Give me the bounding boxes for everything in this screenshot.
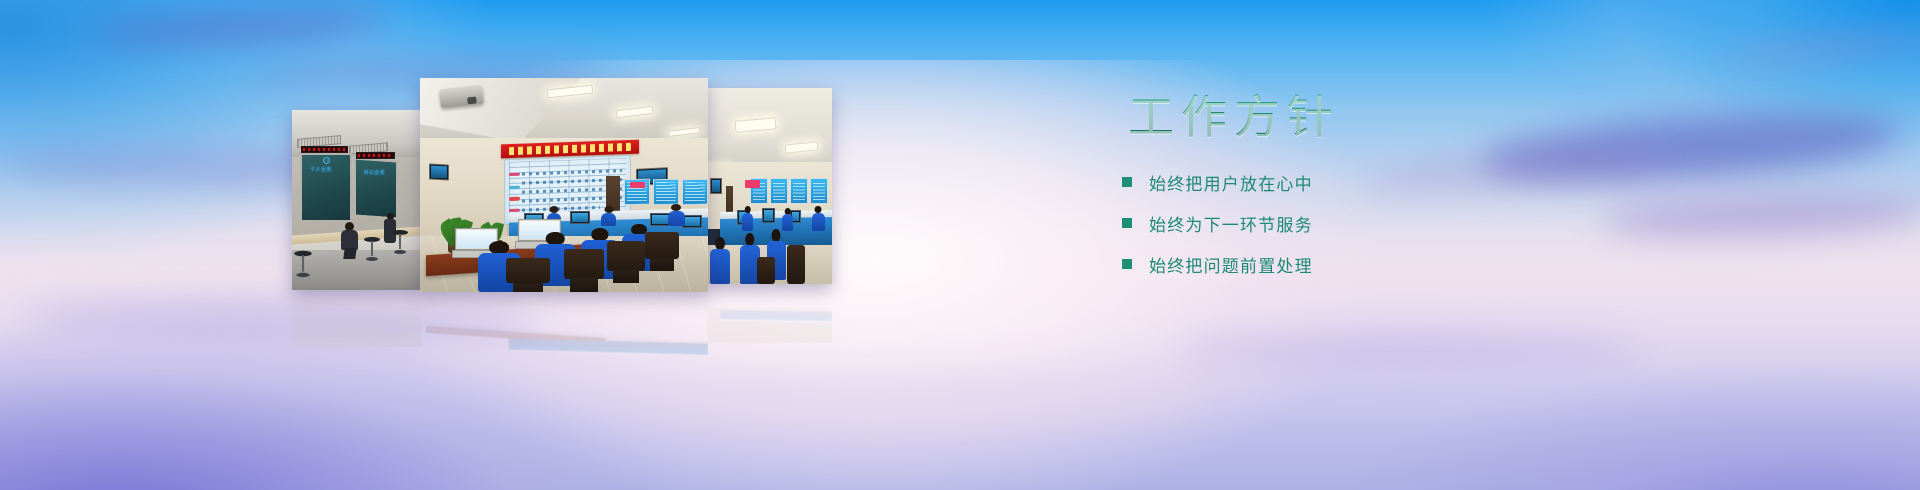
office-chair-icon (564, 249, 604, 292)
torso (341, 230, 358, 250)
monitor-icon (570, 211, 590, 224)
seated-operator (782, 208, 793, 232)
dispatch-control-room-photo[interactable] (420, 78, 708, 292)
bar-stool-icon (392, 230, 408, 254)
banner-text-block: 工作方针 始终把用户放在心中 始终为下一环节服务 始终把问题前置处理 (1122, 92, 1642, 293)
page-title: 工作方针 (1128, 92, 1642, 144)
list-item-label: 始终为下一环节服务 (1149, 211, 1313, 236)
chair-legs (650, 258, 673, 270)
torso (742, 213, 753, 231)
seated-customer (341, 222, 358, 258)
list-item: 始终把问题前置处理 (1122, 252, 1642, 277)
list-item-label: 始终把用户放在心中 (1149, 170, 1313, 195)
wall-monitor-icon (710, 178, 723, 194)
head (489, 241, 509, 254)
notice-board-title (745, 180, 760, 188)
head (549, 206, 558, 213)
notice-board (682, 178, 708, 204)
office-chair-icon (787, 245, 805, 284)
office-chair-icon (607, 241, 644, 284)
torso (710, 249, 730, 284)
pole (371, 241, 373, 256)
list-item: 始终为下一环节服务 (1122, 211, 1642, 236)
foreground-operator (710, 237, 730, 284)
counter-glass-panel (354, 157, 398, 219)
policy-bullet-list: 始终把用户放在心中 始终为下一环节服务 始终把问题前置处理 (1122, 170, 1642, 277)
counter-label: 对公业务 (364, 169, 386, 176)
notice-board (810, 178, 829, 203)
square-bullet-icon (1122, 177, 1132, 187)
chair-legs (570, 278, 597, 292)
chair-back (645, 232, 680, 259)
chair-back (506, 258, 549, 283)
notice-board (653, 178, 679, 204)
head (745, 233, 755, 246)
status-chip (508, 186, 519, 190)
hero-banner: 3 个人业务 对公业务 (0, 0, 1920, 490)
bar-stool-icon (364, 237, 380, 261)
chair-back (564, 249, 604, 279)
notice-board (770, 178, 789, 203)
office-chair-icon (506, 258, 549, 292)
foot (366, 257, 378, 261)
chair-back (607, 241, 644, 271)
pole (301, 255, 303, 272)
square-bullet-icon (1122, 259, 1132, 269)
photo-reflection (707, 285, 832, 343)
monitor-icon (682, 215, 702, 228)
square-bullet-icon (1122, 218, 1132, 228)
status-chip (508, 197, 519, 201)
foot (296, 272, 309, 276)
bar-stool-icon (294, 250, 312, 276)
pole (399, 234, 401, 249)
seated-operator (812, 206, 825, 231)
notice-board-title (630, 182, 644, 188)
office-chair-icon (645, 232, 680, 271)
back-row-operator (601, 206, 615, 225)
seated-operator (742, 206, 753, 231)
torso (601, 213, 615, 226)
notice-board (790, 178, 809, 203)
head (772, 229, 781, 242)
legs (344, 248, 358, 259)
photo-reflection (420, 293, 708, 359)
counter-number-badge: 3 (323, 157, 330, 164)
torso (812, 213, 825, 231)
foot (394, 250, 406, 254)
monitor-icon (762, 208, 775, 224)
led-scroll-sign-icon (356, 152, 395, 159)
list-item: 始终把用户放在心中 (1122, 170, 1642, 195)
wide-control-room-photo[interactable] (707, 88, 832, 284)
office-chair-icon (757, 257, 775, 284)
chair-legs (513, 283, 542, 293)
counter-label: 个人业务 (310, 166, 332, 173)
dispatch-room-scene (420, 78, 708, 292)
led-scroll-sign-icon (301, 146, 348, 153)
head (715, 237, 725, 250)
status-chip (508, 173, 519, 177)
photo-collage: 3 个人业务 对公业务 (0, 0, 900, 400)
head (591, 228, 608, 241)
bank-counter-scene: 3 个人业务 对公业务 (292, 110, 422, 290)
list-item-label: 始终把问题前置处理 (1149, 252, 1313, 277)
wall-monitor-icon (429, 163, 449, 180)
wide-control-room-scene (707, 88, 832, 284)
photo-reflection (292, 291, 422, 347)
back-row-operator (668, 204, 685, 225)
chair-legs (613, 270, 638, 284)
head (604, 206, 613, 213)
torso (668, 211, 685, 226)
bank-service-counter-photo[interactable]: 3 个人业务 对公业务 (292, 110, 422, 290)
